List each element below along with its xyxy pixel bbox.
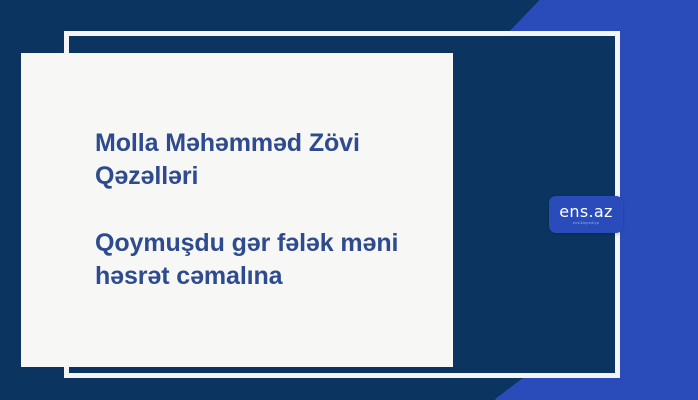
logo-wordmark: ens.az (559, 204, 612, 220)
page-subtitle: Qoymuşdu gər fələk məni həsrət cəmalına (95, 227, 405, 293)
page-title: Molla Məhəmməd Zövi Qəzəlləri (95, 127, 405, 193)
text-block: Molla Məhəmməd Zövi Qəzəlləri Qoymuşdu g… (95, 127, 405, 293)
logo-tagline: ensiklopediya (573, 222, 599, 225)
ensaz-logo-badge[interactable]: ens.az ensiklopediya (549, 196, 623, 233)
content-panel: Molla Məhəmməd Zövi Qəzəlləri Qoymuşdu g… (21, 53, 453, 367)
share-card: Molla Məhəmməd Zövi Qəzəlləri Qoymuşdu g… (0, 0, 698, 400)
